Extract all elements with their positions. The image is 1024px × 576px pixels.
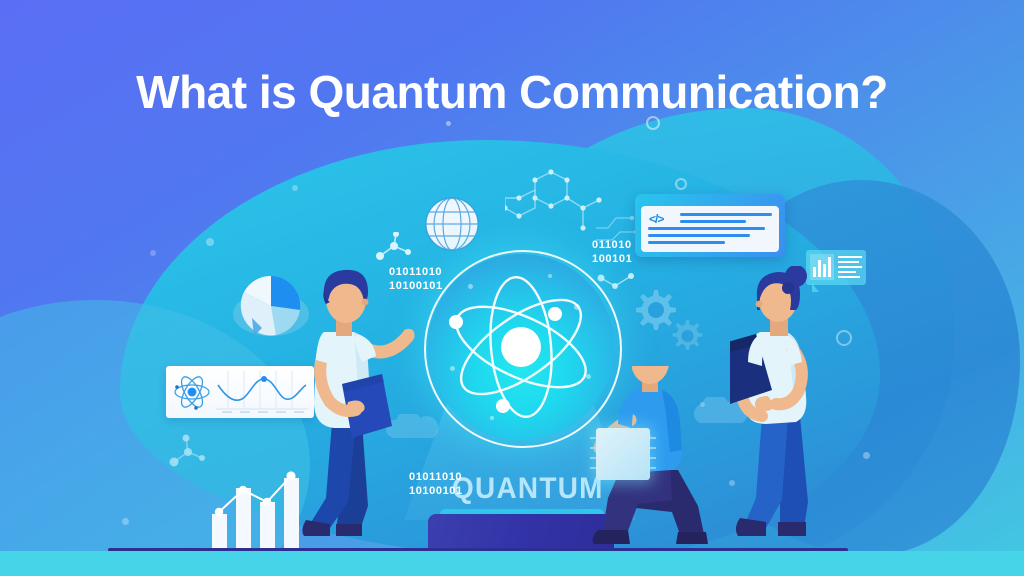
chip-pin-icon <box>590 430 656 478</box>
page-title: What is Quantum Communication? <box>0 65 1024 119</box>
molecule-icon <box>166 432 208 474</box>
code-window-body: </> <box>641 206 779 252</box>
dot-accent-2 <box>206 238 214 246</box>
dot-accent-3 <box>292 185 298 191</box>
code-symbol: </> <box>649 212 663 226</box>
code-line <box>680 213 772 216</box>
hexagon-lattice-icon <box>505 166 605 252</box>
quantum-label: QUANTUM <box>452 472 604 506</box>
atom-icon <box>438 264 604 430</box>
line-chart-icon <box>216 371 308 413</box>
binary-label-top-right: 011010 100101 <box>592 239 632 267</box>
bar-chart-icon <box>210 470 306 552</box>
person-standing-left <box>296 262 416 552</box>
dot-accent-4 <box>863 452 870 459</box>
gear-icon <box>628 286 712 358</box>
code-line <box>648 241 725 244</box>
analytics-card <box>166 366 314 418</box>
person-standing-right <box>730 266 846 552</box>
code-line <box>648 227 765 230</box>
code-line <box>680 220 746 223</box>
code-window-icon[interactable]: </> <box>635 194 785 257</box>
dot-accent-7 <box>122 518 129 525</box>
ground-strip <box>0 551 1024 576</box>
binary-label-top-left: 01011010 10100101 <box>389 266 443 294</box>
illustration-canvas: QUANTUM </> <box>0 0 1024 576</box>
globe-icon <box>424 196 480 252</box>
binary-label-bottom: 01011010 10100101 <box>409 471 463 499</box>
code-line <box>648 234 750 237</box>
dot-accent-8 <box>150 250 156 256</box>
atom-icon <box>172 372 212 412</box>
ring-accent-2 <box>675 178 687 190</box>
dot-accent-1 <box>446 121 451 126</box>
